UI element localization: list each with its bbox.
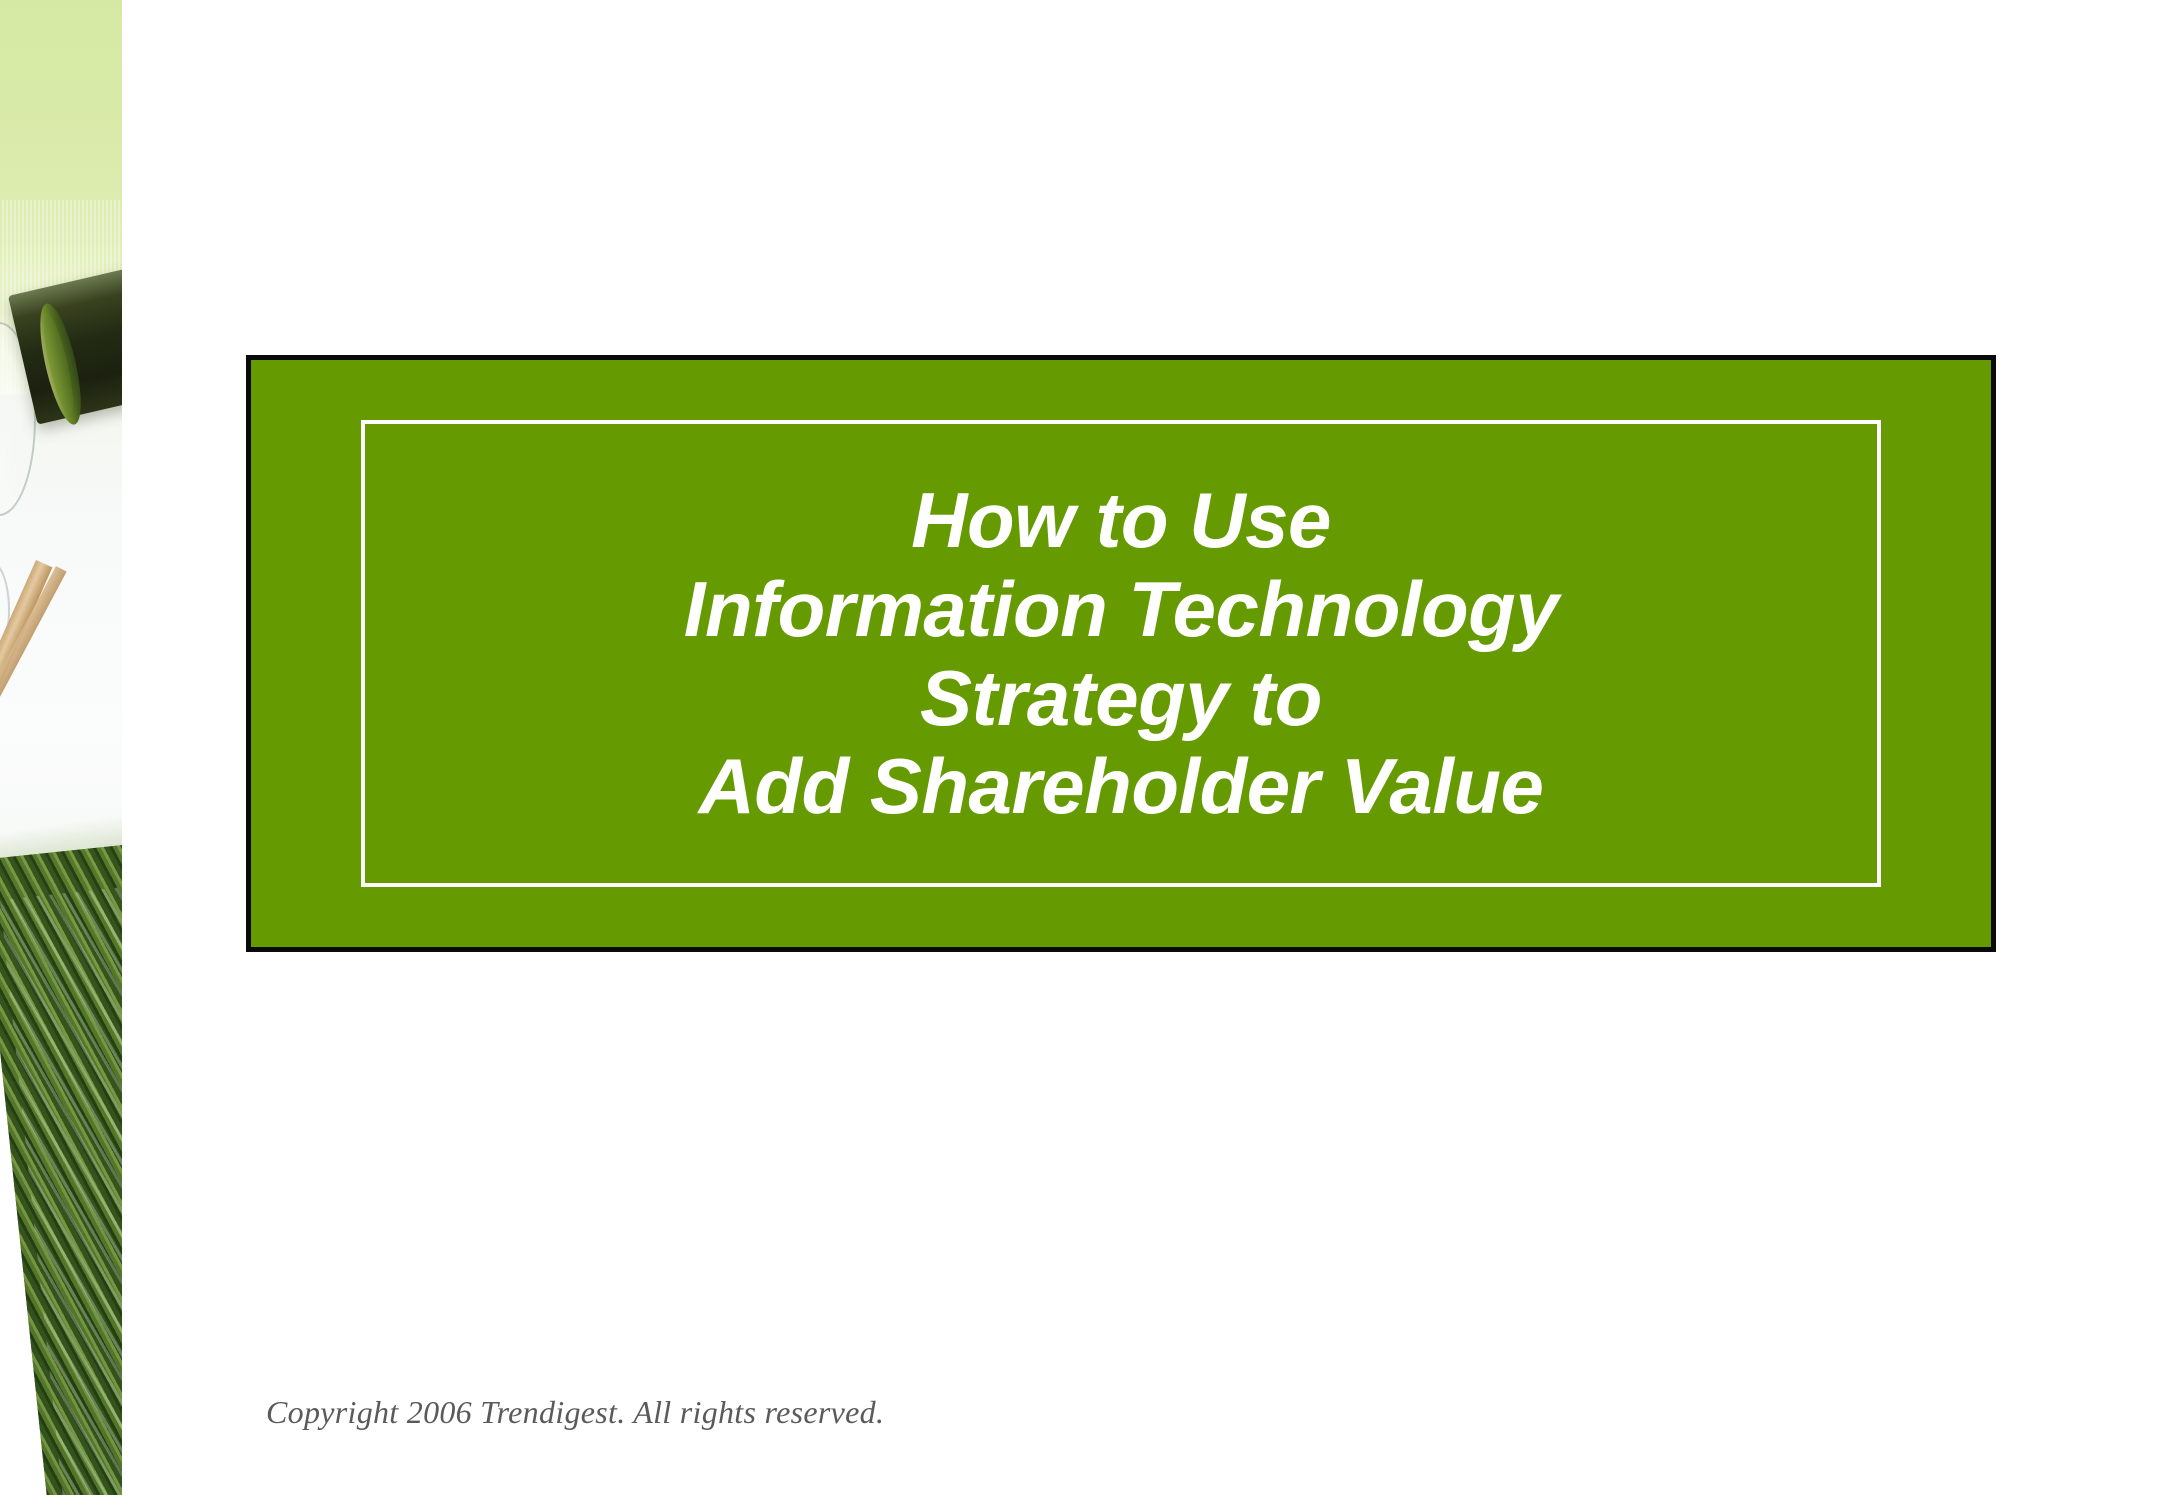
slide-canvas: How to Use Information Technology Strate… xyxy=(0,0,2162,1495)
photo-grass-bundle xyxy=(0,840,122,1495)
decorative-photo-strip xyxy=(0,0,122,1495)
title-inner-frame: How to Use Information Technology Strate… xyxy=(361,420,1881,887)
slide-title: How to Use Information Technology Strate… xyxy=(684,476,1558,832)
title-box: How to Use Information Technology Strate… xyxy=(246,355,1996,952)
copyright-notice: Copyright 2006 Trendigest. All rights re… xyxy=(266,1394,884,1431)
